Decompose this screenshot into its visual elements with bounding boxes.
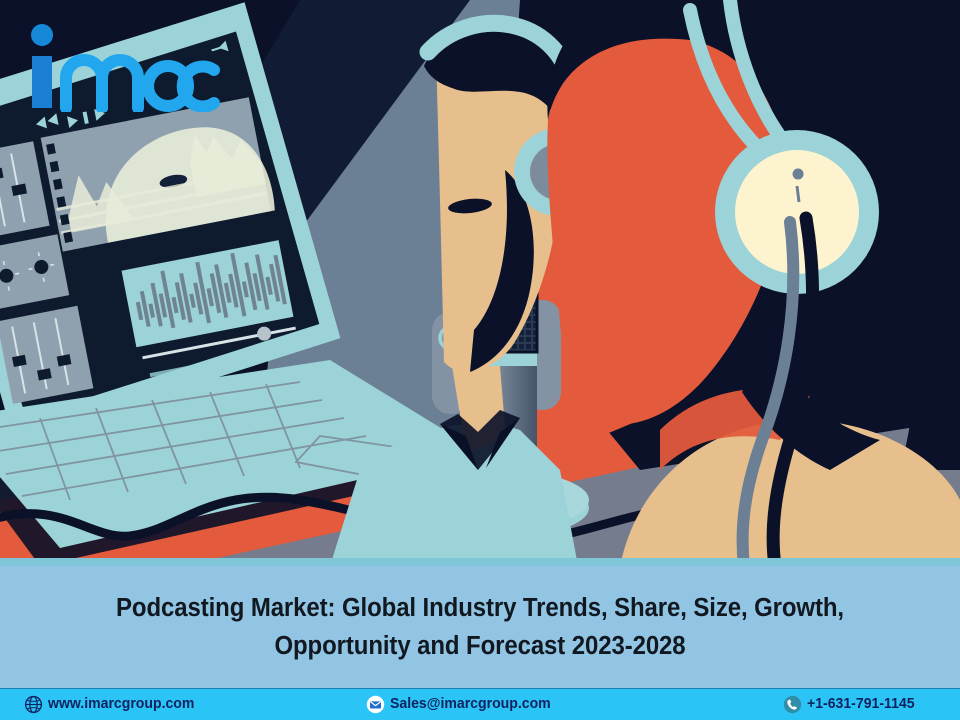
- footer-website-label: www.imarcgroup.com: [48, 696, 194, 712]
- title-line-1: Podcasting Market: Global Industry Trend…: [116, 594, 844, 622]
- title-line-2: Opportunity and Forecast 2023-2028: [274, 632, 685, 660]
- footer-email-label: Sales@imarcgroup.com: [390, 696, 551, 712]
- logo-word-marc: [66, 60, 214, 108]
- bottom-strip: [0, 558, 960, 566]
- footer-email-link[interactable]: Sales@imarcgroup.com: [366, 695, 556, 714]
- report-title-band: Podcasting Market: Global Industry Trend…: [0, 566, 960, 688]
- logo-letter-i: [32, 56, 52, 108]
- globe-icon: [24, 695, 43, 714]
- imarc-logo[interactable]: imarc: [18, 22, 248, 112]
- marketing-banner: imarc Podcasting Market: Global Industry…: [0, 0, 960, 720]
- footer-phone-label: +1-631-791-1145: [807, 696, 915, 712]
- logo-dot: [31, 24, 53, 46]
- contact-footer: www.imarcgroup.com Sales@imarcgroup.com …: [0, 688, 960, 720]
- slider-panel-2: [0, 306, 93, 404]
- logo-mark: imarc: [18, 22, 248, 112]
- footer-divider: [0, 688, 960, 689]
- footer-website-link[interactable]: www.imarcgroup.com: [24, 695, 199, 714]
- phone-icon: [783, 695, 802, 714]
- footer-phone-link[interactable]: +1-631-791-1145: [783, 695, 918, 714]
- page-title: Podcasting Market: Global Industry Trend…: [53, 589, 907, 665]
- envelope-icon: [366, 695, 385, 714]
